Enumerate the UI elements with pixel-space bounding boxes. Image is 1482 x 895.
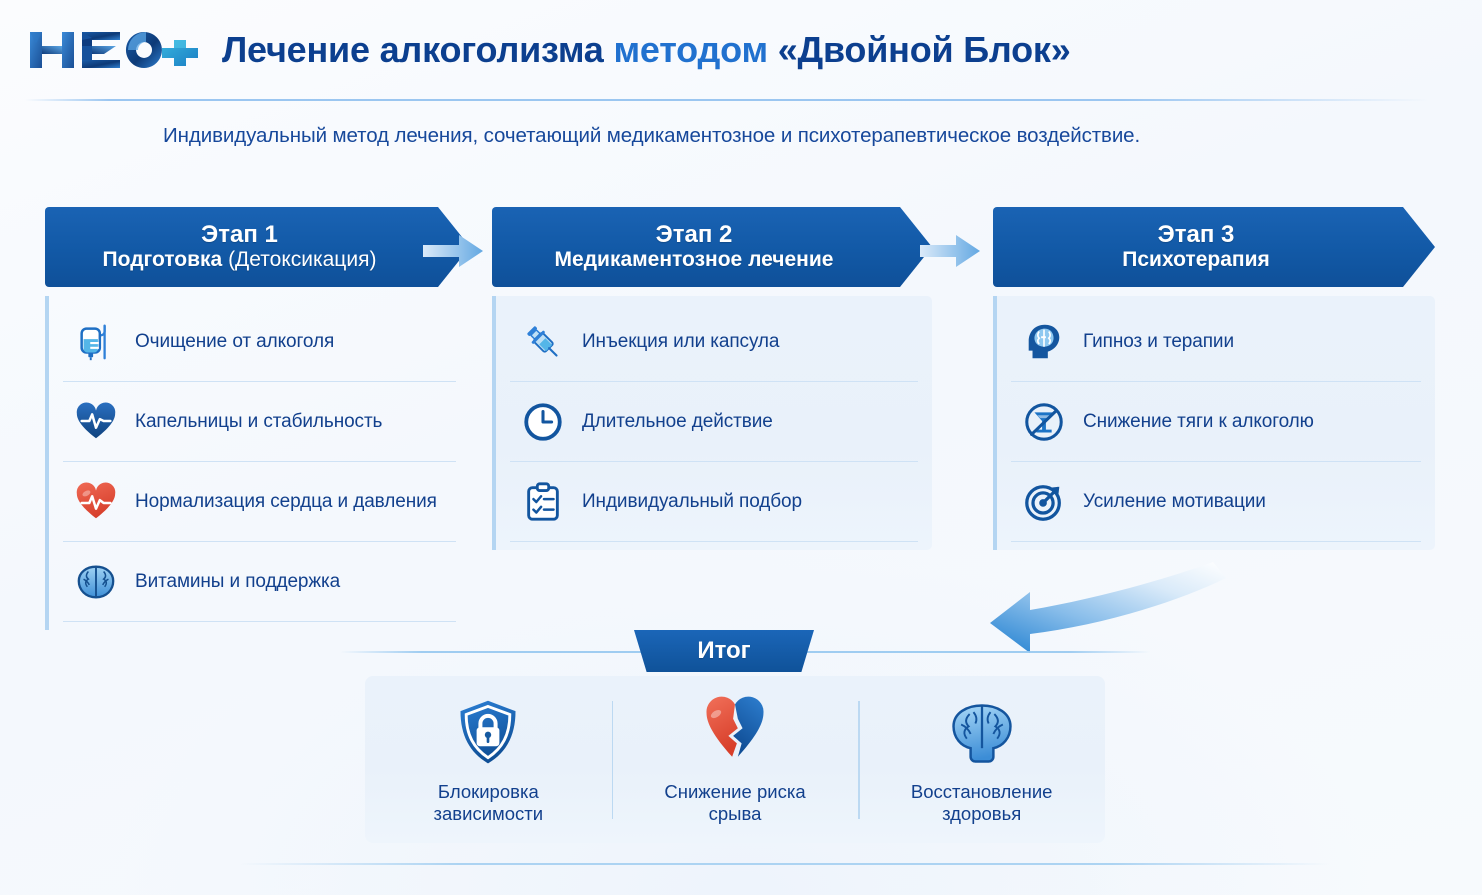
stage-2-header: Этап 2 Медикаментозное лечение: [492, 207, 932, 287]
result-banner: Итог: [634, 630, 814, 672]
arrow-right-icon-1: [423, 232, 485, 270]
feature-row[interactable]: Очищение от алкоголя: [63, 302, 456, 382]
feature-label: Витамины и поддержка: [135, 571, 340, 593]
feature-row[interactable]: Индивидуальный подбор: [510, 462, 918, 542]
stage-1-name-light: (Детоксикация): [222, 248, 376, 271]
syringe-icon: [520, 319, 566, 365]
clipboard-check-icon: [520, 479, 566, 525]
footer-divider: [240, 863, 1330, 865]
curved-arrow-left-icon: [968, 548, 1288, 668]
stage-3-name: Психотерапия: [1122, 248, 1269, 273]
result-banner-label: Итог: [697, 637, 750, 665]
stage-card-2: Этап 2 Медикаментозное лечение: [492, 207, 932, 550]
feature-row[interactable]: Длительное действие: [510, 382, 918, 462]
feature-label: Инъекция или капсула: [582, 331, 779, 353]
stage-1-number: Этап 1: [201, 222, 278, 247]
stage-card-3: Этап 3 Психотерапия Гипноз и терапии: [993, 207, 1435, 550]
target-arrow-icon: [1021, 479, 1067, 525]
feature-label: Индивидуальный подбор: [582, 491, 802, 513]
feature-row[interactable]: Снижение тяги к алкоголю: [1011, 382, 1421, 462]
heart-pulse-red-icon: [73, 479, 119, 525]
stage-1-name: Подготовка (Детоксикация): [103, 248, 377, 273]
result-item-2[interactable]: Снижение риска срыва: [612, 695, 859, 825]
stage-3-header: Этап 3 Психотерапия: [993, 207, 1435, 287]
stage-2-name: Медикаментозное лечение: [555, 248, 834, 273]
feature-label: Усиление мотивации: [1083, 491, 1266, 513]
shield-lock-icon: [449, 695, 527, 771]
feature-row[interactable]: Витамины и поддержка: [63, 542, 456, 622]
heart-pulse-blue-icon: [73, 399, 119, 445]
stage-2-body: Инъекция или капсула Длительное действие: [492, 296, 932, 550]
feature-row[interactable]: Гипноз и терапии: [1011, 302, 1421, 382]
feature-label: Гипноз и терапии: [1083, 331, 1234, 353]
result-item-3[interactable]: Восстановление здоровья: [858, 695, 1105, 825]
iv-drip-icon: [73, 319, 119, 365]
stage-1-header: Этап 1 Подготовка (Детоксикация): [45, 207, 470, 287]
stage-3-body: Гипноз и терапии Снижение тяги к алкогол…: [993, 296, 1435, 550]
clock-icon: [520, 399, 566, 445]
broken-heart-icon: [696, 695, 774, 771]
stage-1-name-bold: Подготовка: [103, 248, 223, 271]
feature-label: Длительное действие: [582, 411, 773, 433]
result-label: Восстановление здоровья: [911, 781, 1053, 825]
feature-label: Очищение от алкоголя: [135, 331, 334, 353]
stage-card-1: Этап 1 Подготовка (Детоксикация): [45, 207, 470, 630]
head-brain-icon: [1021, 319, 1067, 365]
feature-label: Нормализация сердца и давления: [135, 491, 437, 513]
brain-icon: [73, 559, 119, 605]
feature-row[interactable]: Капельницы и стабильность: [63, 382, 456, 462]
result-item-1[interactable]: Блокировка зависимости: [365, 695, 612, 825]
brain-large-icon: [943, 695, 1021, 771]
arrow-right-icon-2: [920, 232, 982, 270]
stage-2-number: Этап 2: [656, 222, 733, 247]
feature-row[interactable]: Инъекция или капсула: [510, 302, 918, 382]
feature-label: Снижение тяги к алкоголю: [1083, 411, 1314, 433]
result-label: Блокировка зависимости: [434, 781, 544, 825]
result-panel: Блокировка зависимости Снижение риска ср…: [365, 676, 1105, 843]
feature-row[interactable]: Усиление мотивации: [1011, 462, 1421, 542]
no-alcohol-icon: [1021, 399, 1067, 445]
feature-row[interactable]: Нормализация сердца и давления: [63, 462, 456, 542]
feature-label: Капельницы и стабильность: [135, 411, 382, 433]
stage-3-number: Этап 3: [1158, 222, 1235, 247]
result-label: Снижение риска срыва: [664, 781, 805, 825]
stage-1-body: Очищение от алкоголя Капельницы и стабил…: [45, 296, 470, 630]
